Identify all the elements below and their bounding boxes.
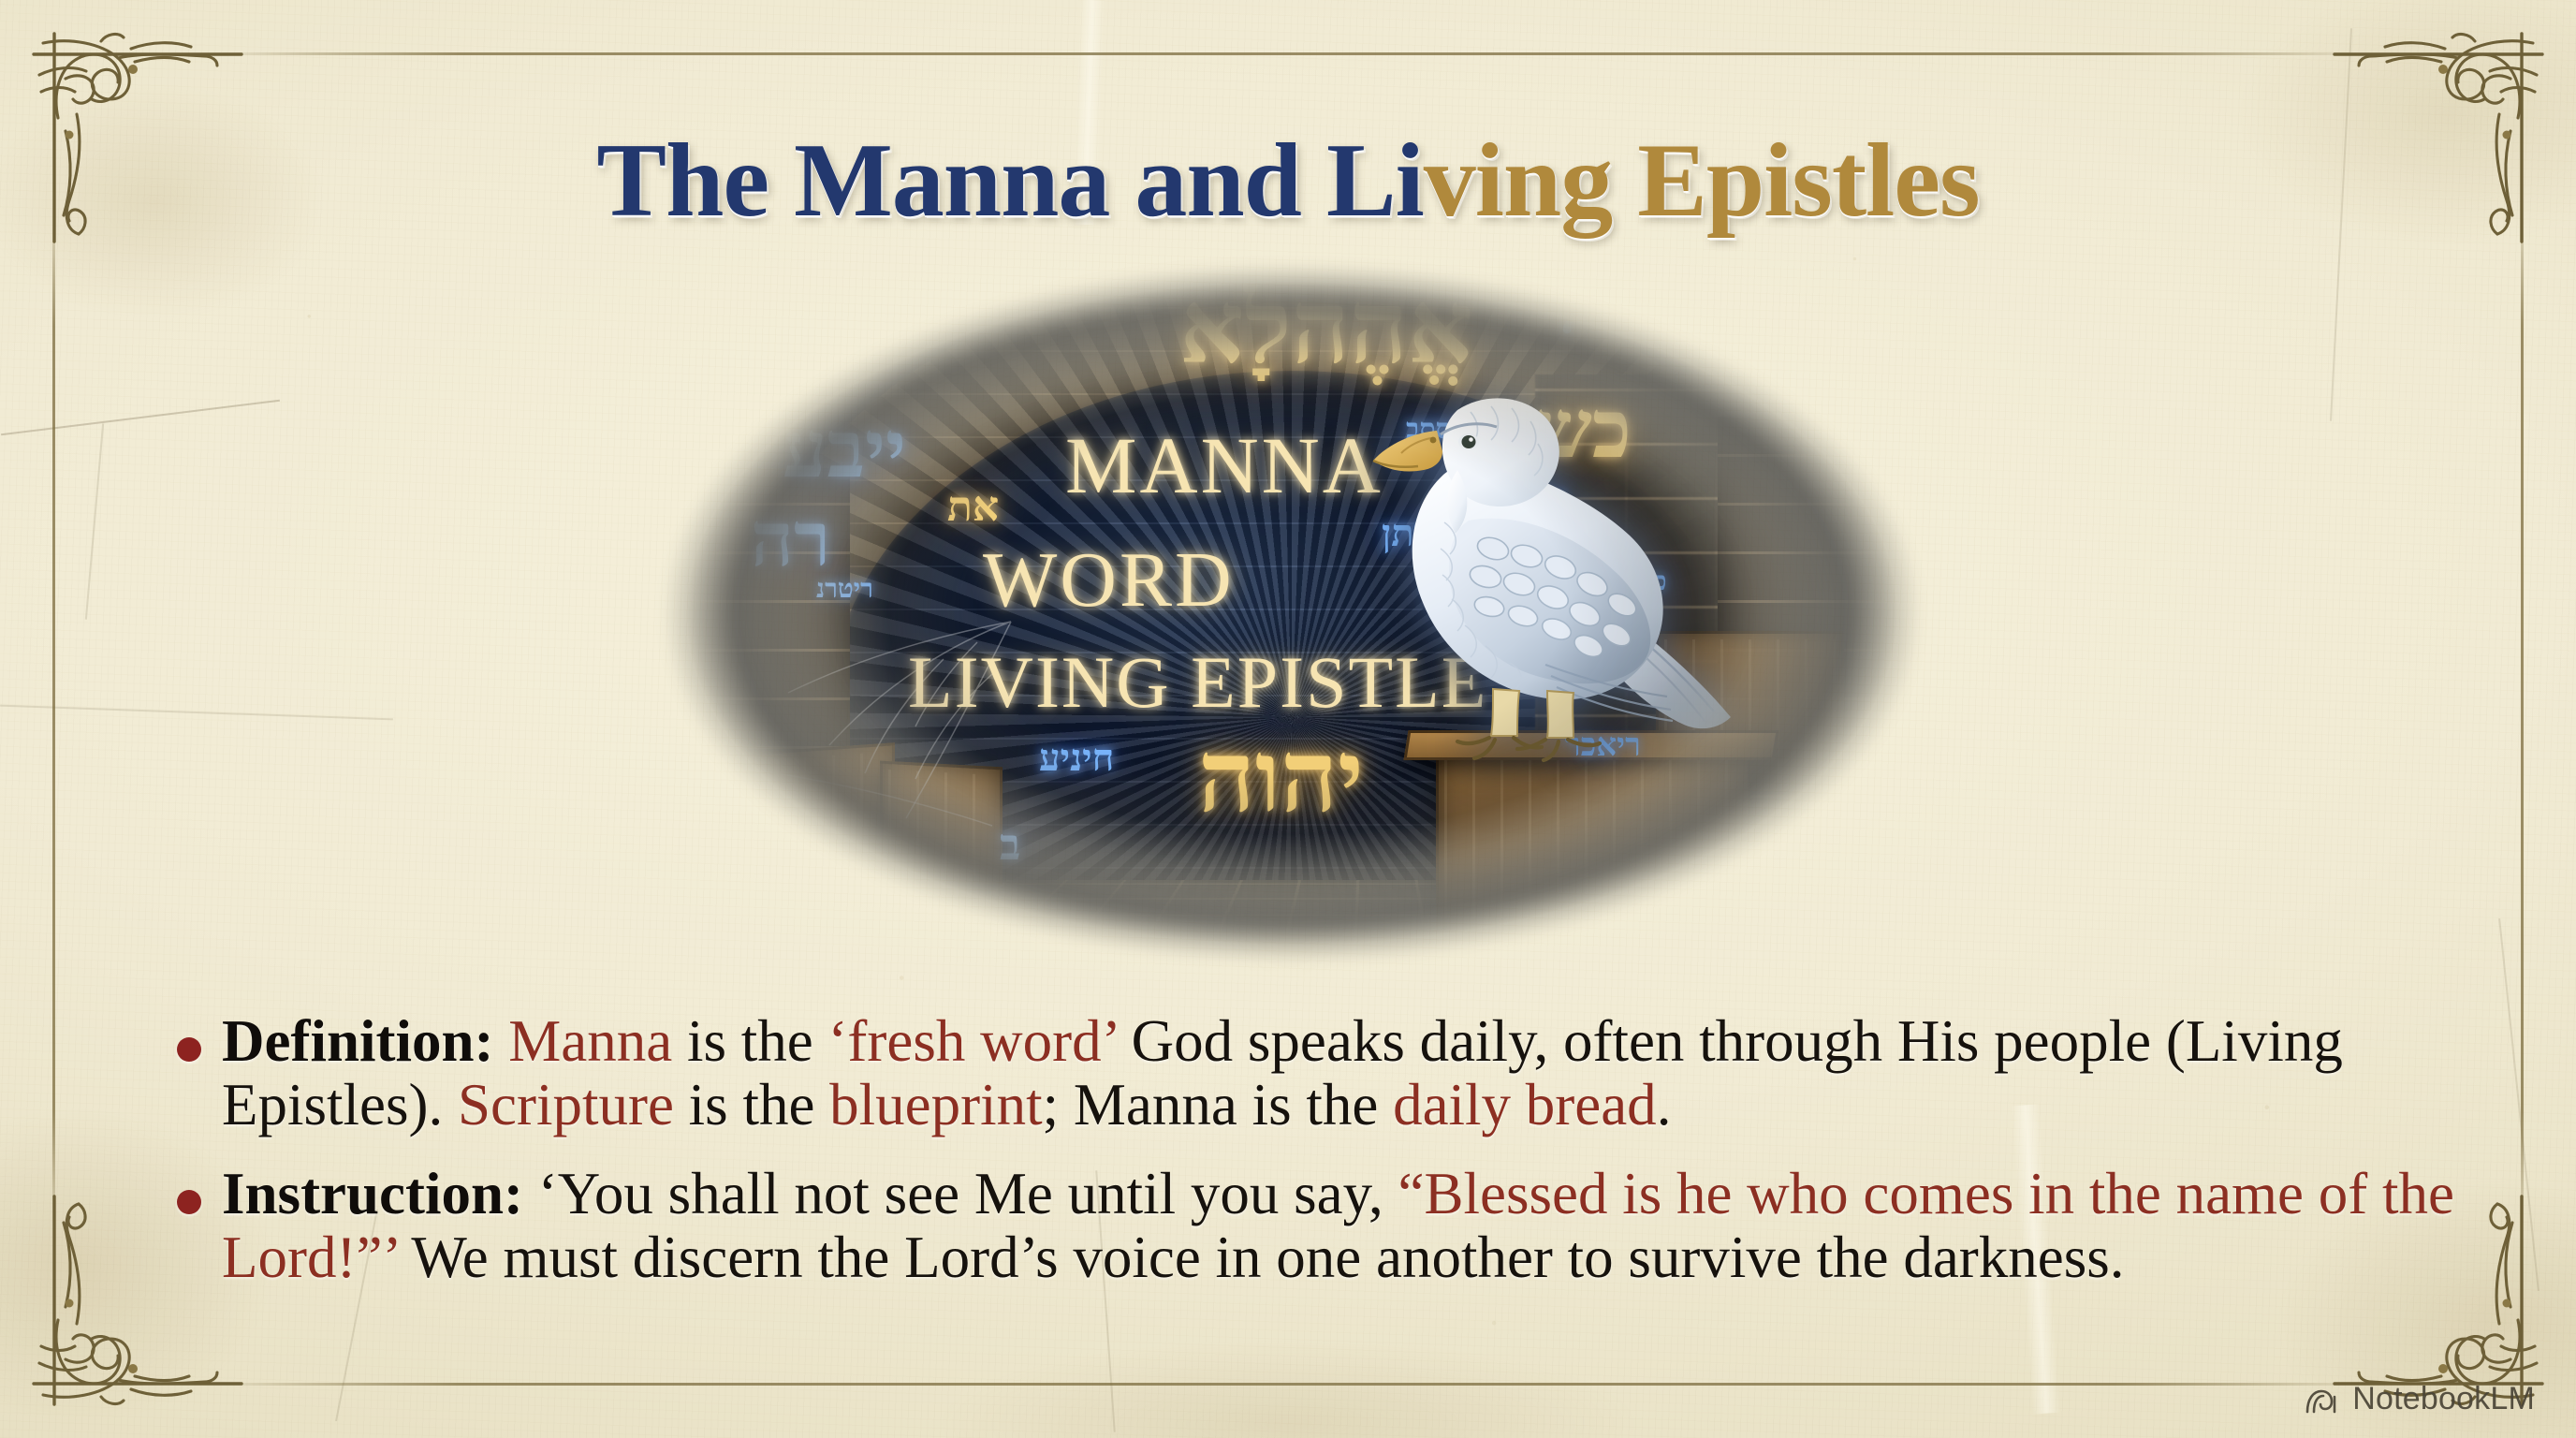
glow-word: MANNA xyxy=(1065,425,1383,506)
bullet-run: is the xyxy=(672,1008,827,1074)
page-title: The Manna and Living Epistles xyxy=(0,126,2576,237)
bullet-run: . xyxy=(1657,1072,1672,1137)
bullet-lead-label: Instruction: xyxy=(222,1161,523,1226)
border-rule-right xyxy=(2521,201,2524,1237)
illustration-canvas: ל אֱהֶהלָא ע כש ריססב ייבע MANNA יש את ר… xyxy=(599,234,1984,992)
slide-canvas: The Manna and Living Epistles xyxy=(0,0,2576,1438)
glow-word: יהוה xyxy=(1198,728,1364,828)
crease-line xyxy=(2498,918,2539,1291)
glow-word: WORD xyxy=(983,541,1235,620)
glowing-word-cloud: ל אֱהֶהלָא ע כש ריססב ייבע MANNA יש את ר… xyxy=(599,234,1984,992)
bullet-paragraph: Definition: Manna is the ‘fresh word’ Go… xyxy=(222,1009,2454,1137)
illustration: ל אֱהֶהלָא ע כש ריססב ייבע MANNA יש את ר… xyxy=(599,234,1984,992)
bullet-run: Scripture xyxy=(458,1072,674,1137)
notebooklm-spiral-icon xyxy=(2303,1385,2340,1415)
glow-word: ב xyxy=(1000,824,1020,867)
bullet-run: ; Manna is the xyxy=(1043,1072,1393,1137)
bullet-run: is the xyxy=(674,1072,829,1137)
glow-word: ייבע xyxy=(783,412,906,491)
border-rule-top xyxy=(201,52,2375,55)
bullet-run: daily bread xyxy=(1393,1072,1657,1137)
bullet-paragraph: Instruction: ‘You shall not see Me until… xyxy=(222,1162,2454,1290)
glow-word: רה xyxy=(751,504,830,579)
bullet-run: ‘You shall not see Me until you say, xyxy=(523,1161,1398,1226)
glow-word: ריטרנ xyxy=(816,577,873,603)
glow-word: ע xyxy=(1646,318,1663,350)
bullet-list: Definition: Manna is the ‘fresh word’ Go… xyxy=(164,1009,2454,1313)
notebooklm-watermark: NotebookLM xyxy=(2303,1381,2535,1417)
page-title-gold-part: ving Epistles xyxy=(1424,123,1980,239)
glow-word: את xyxy=(947,487,999,528)
crease-line xyxy=(0,705,393,721)
glow-word: חיניע xyxy=(1039,740,1114,777)
bullet-run: ‘fresh word’ xyxy=(827,1008,1116,1074)
crease-line xyxy=(85,423,104,619)
page-title-navy-part: The Manna and Li xyxy=(596,123,1423,239)
white-eagle xyxy=(1353,365,1746,768)
crease-line xyxy=(1,400,280,436)
glow-word: ל xyxy=(1554,260,1594,346)
list-item: Instruction: ‘You shall not see Me until… xyxy=(164,1162,2454,1290)
border-rule-bottom xyxy=(201,1383,2375,1386)
bullet-run: blueprint xyxy=(829,1072,1042,1137)
notebooklm-label: NotebookLM xyxy=(2352,1381,2535,1417)
border-rule-left xyxy=(52,201,55,1237)
list-item: Definition: Manna is the ‘fresh word’ Go… xyxy=(164,1009,2454,1137)
bullet-dot-icon xyxy=(177,1037,201,1062)
bullet-lead-label: Definition: xyxy=(222,1008,493,1074)
bullet-run: We must discern the Lord’s voice in one … xyxy=(398,1225,2125,1290)
bullet-dot-icon xyxy=(177,1190,201,1214)
bullet-run: Manna xyxy=(493,1008,672,1074)
